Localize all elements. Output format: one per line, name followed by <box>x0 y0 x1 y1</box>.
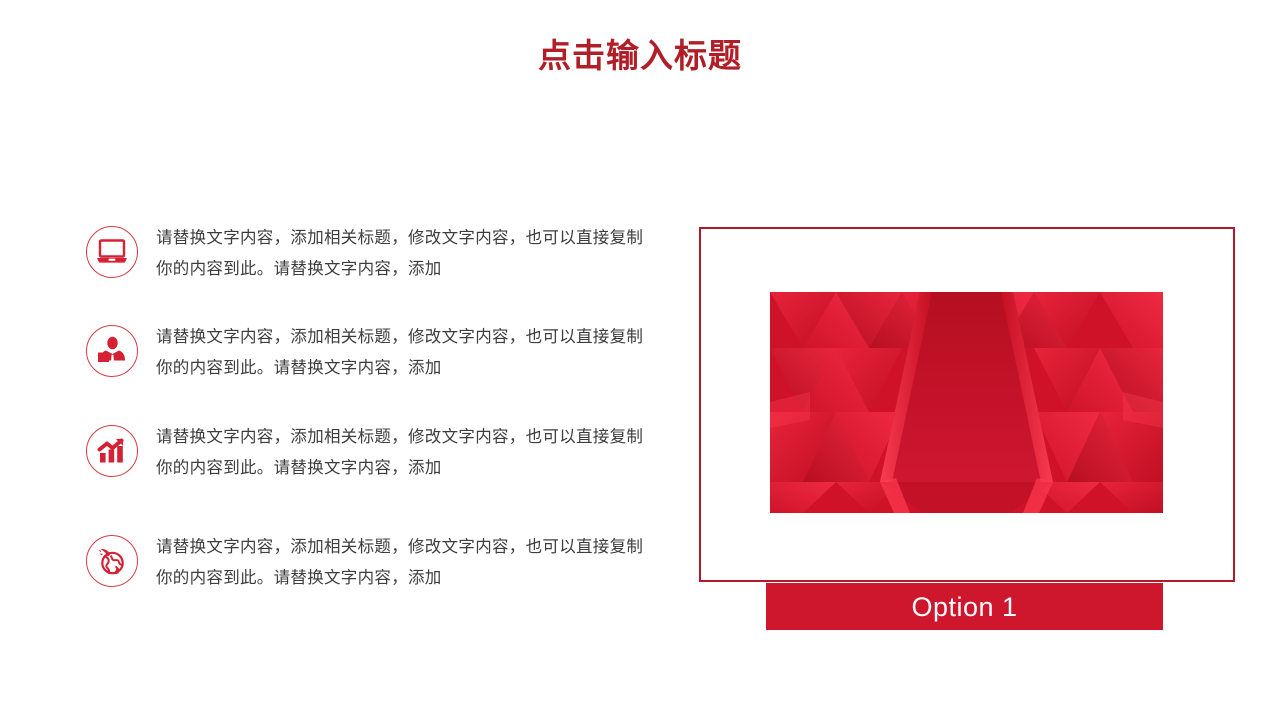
businessman-icon <box>86 325 138 377</box>
option-banner-label: Option 1 <box>911 592 1017 622</box>
page-title: 点击输入标题 <box>0 34 1280 78</box>
bar-chart-growth-icon <box>86 425 138 477</box>
list-item-label: 请替换文字内容，添加相关标题，修改文字内容，也可以直接复制你的内容到此。请替换文… <box>156 421 651 483</box>
list-item[interactable]: 请替换文字内容，添加相关标题，修改文字内容，也可以直接复制你的内容到此。请替换文… <box>86 421 656 483</box>
globe-rocket-icon <box>86 535 138 587</box>
list-item-label: 请替换文字内容，添加相关标题，修改文字内容，也可以直接复制你的内容到此。请替换文… <box>156 531 651 593</box>
list-item[interactable]: 请替换文字内容，添加相关标题，修改文字内容，也可以直接复制你的内容到此。请替换文… <box>86 531 656 593</box>
list-item[interactable]: 请替换文字内容，添加相关标题，修改文字内容，也可以直接复制你的内容到此。请替换文… <box>86 321 656 383</box>
abstract-red-triangles-image <box>770 292 1163 513</box>
list-item-label: 请替换文字内容，添加相关标题，修改文字内容，也可以直接复制你的内容到此。请替换文… <box>156 321 651 383</box>
laptop-icon <box>86 226 138 278</box>
option-banner[interactable]: Option 1 <box>766 583 1163 630</box>
list-item[interactable]: 请替换文字内容，添加相关标题，修改文字内容，也可以直接复制你的内容到此。请替换文… <box>86 222 656 284</box>
list-item-label: 请替换文字内容，添加相关标题，修改文字内容，也可以直接复制你的内容到此。请替换文… <box>156 222 651 284</box>
